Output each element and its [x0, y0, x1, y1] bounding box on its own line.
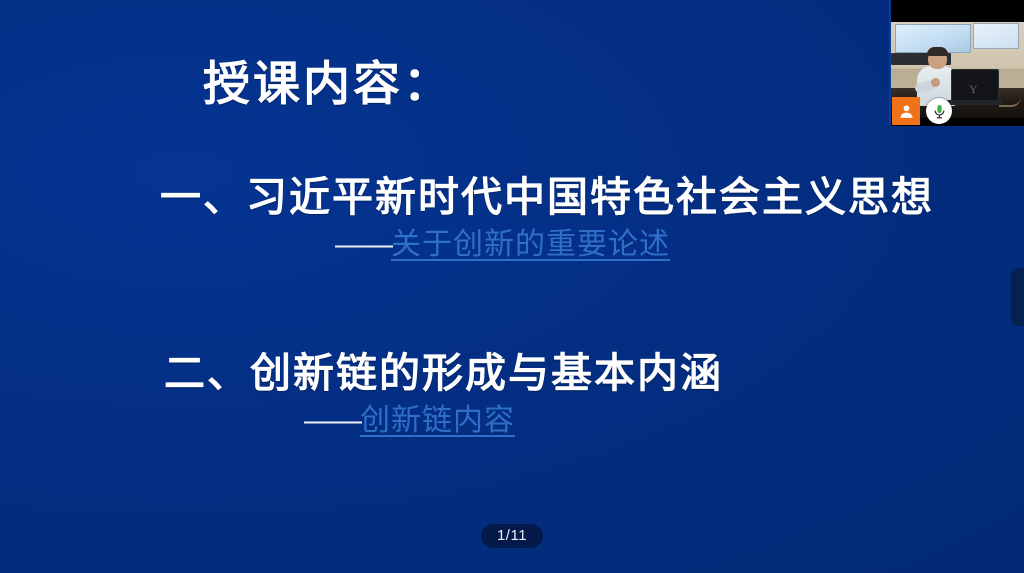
microphone-icon[interactable] — [926, 98, 952, 124]
presentation-viewer: 授课内容： 一、习近平新时代中国特色社会主义思想 ——关于创新的重要论述 二、创… — [0, 0, 1024, 573]
bullet-1-subtext: 关于创新的重要论述 — [391, 228, 670, 261]
bullet-1-heading: 一、习近平新时代中国特色社会主义思想 — [160, 174, 934, 221]
slide-canvas — [0, 0, 1024, 573]
panel-handle[interactable] — [1011, 268, 1024, 326]
bullet-2-subtext: 创新链内容 — [360, 404, 515, 437]
presenter-hair — [927, 47, 948, 56]
webcam-letterbox — [891, 0, 1024, 22]
bullet-group-2: 二、创新链的形成与基本内涵 ——创新链内容 — [164, 350, 723, 439]
bullet-group-1: 一、习近平新时代中国特色社会主义思想 ——关于创新的重要论述 — [160, 174, 934, 263]
bullet-2-heading: 二、创新链的形成与基本内涵 — [164, 350, 723, 397]
person-icon[interactable] — [892, 97, 920, 125]
bullet-1-subline: ——关于创新的重要论述 — [335, 227, 934, 263]
slide-title: 授课内容： — [203, 58, 453, 110]
presenter-hand — [931, 78, 940, 87]
projection-screen-secondary — [973, 23, 1019, 49]
webcam-overlay[interactable]: Y — [889, 0, 1024, 126]
em-dash-2: —— — [304, 404, 360, 437]
laptop-logo-icon: Y — [969, 84, 979, 95]
bullet-2-subline: ——创新链内容 — [304, 403, 723, 439]
em-dash-1: —— — [335, 228, 391, 261]
webcam-badges — [891, 96, 1024, 126]
page-indicator: 1/11 — [481, 524, 543, 548]
